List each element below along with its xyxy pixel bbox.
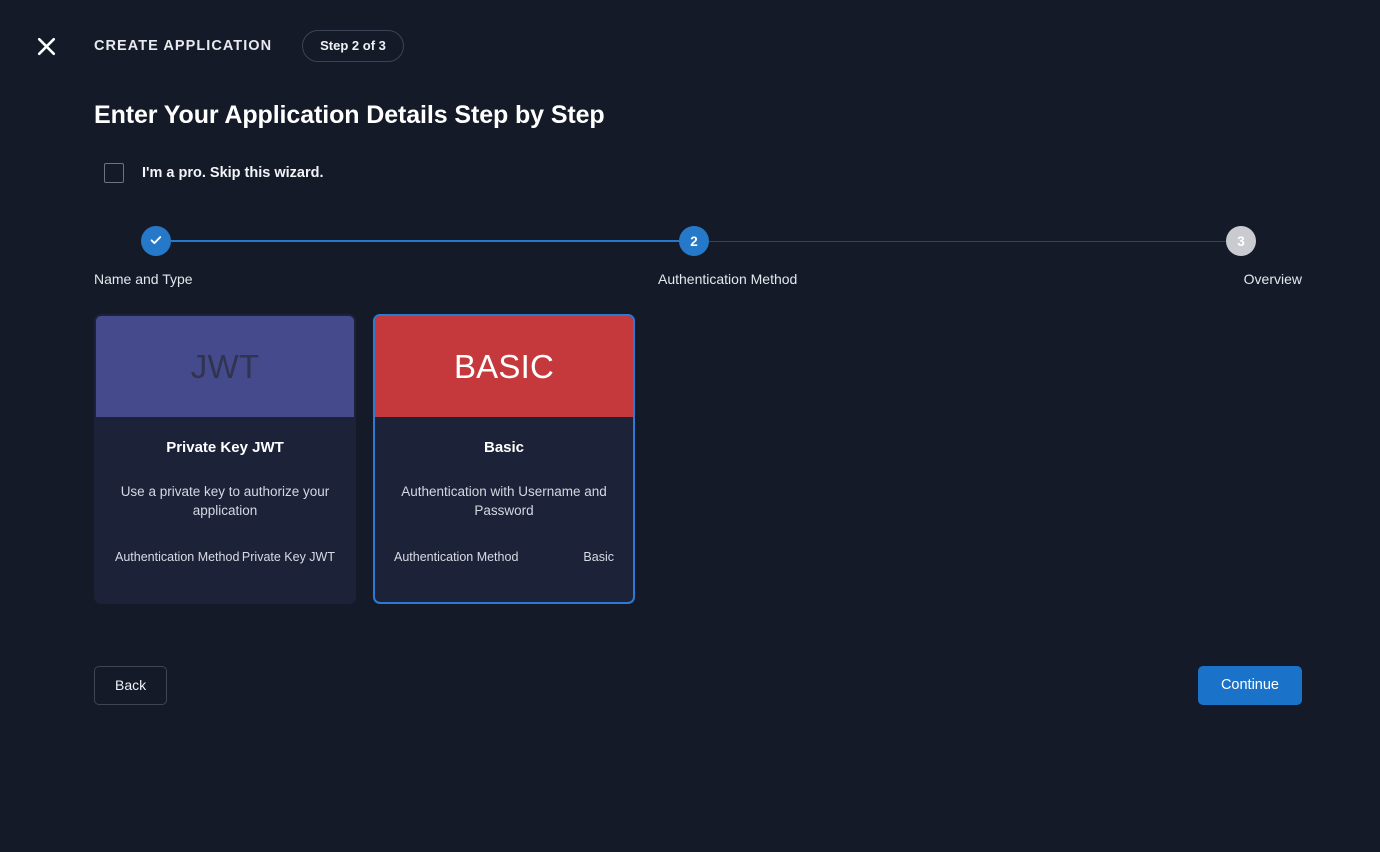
close-icon — [37, 37, 56, 56]
auth-method-card-basic[interactable]: BASIC Basic Authentication with Username… — [373, 314, 635, 604]
card-meta-value: Private Key JWT — [242, 550, 335, 564]
card-meta-value: Basic — [583, 550, 614, 564]
back-button[interactable]: Back — [94, 666, 167, 705]
skip-wizard-row[interactable]: I'm a pro. Skip this wizard. — [104, 163, 1302, 183]
wizard-topbar: CREATE APPLICATION Step 2 of 3 — [0, 0, 1380, 92]
continue-button[interactable]: Continue — [1198, 666, 1302, 705]
stepper-track: 2 3 — [141, 226, 1256, 256]
card-title: Basic — [389, 439, 619, 457]
card-banner-basic: BASIC — [375, 316, 633, 417]
card-meta-row: Authentication Method Basic — [389, 550, 619, 564]
wizard-title: CREATE APPLICATION — [94, 38, 272, 54]
auth-method-cards: JWT Private Key JWT Use a private key to… — [94, 314, 1302, 604]
stepper-node-1[interactable] — [141, 226, 171, 256]
skip-wizard-checkbox[interactable] — [104, 163, 124, 183]
card-body: Basic Authentication with Username and P… — [375, 417, 633, 602]
stepper-label-2: Authentication Method — [658, 271, 797, 287]
wizard-content: Enter Your Application Details Step by S… — [0, 101, 1380, 705]
stepper-segment-pending — [709, 241, 1226, 242]
card-meta-label: Authentication Method — [115, 550, 239, 564]
stepper-label-3: Overview — [1244, 271, 1302, 287]
card-body: Private Key JWT Use a private key to aut… — [96, 417, 354, 602]
card-meta-label: Authentication Method — [394, 550, 518, 564]
card-title: Private Key JWT — [110, 439, 340, 457]
check-icon — [149, 233, 163, 250]
card-banner-jwt: JWT — [96, 316, 354, 417]
step-badge[interactable]: Step 2 of 3 — [302, 30, 404, 62]
page-title: Enter Your Application Details Step by S… — [94, 101, 1302, 130]
skip-wizard-label: I'm a pro. Skip this wizard. — [142, 165, 324, 181]
stepper-node-2[interactable]: 2 — [679, 226, 709, 256]
stepper-node-3[interactable]: 3 — [1226, 226, 1256, 256]
close-wizard-button[interactable] — [30, 30, 62, 62]
wizard-footer: Back Continue — [94, 666, 1302, 705]
card-description: Authentication with Username and Passwor… — [389, 483, 619, 520]
auth-method-card-private-key-jwt[interactable]: JWT Private Key JWT Use a private key to… — [94, 314, 356, 604]
stepper-label-1: Name and Type — [94, 271, 193, 287]
card-description: Use a private key to authorize your appl… — [110, 483, 340, 520]
stepper-segment-completed — [171, 240, 679, 242]
card-meta-row: Authentication Method Private Key JWT — [110, 550, 340, 564]
wizard-stepper: 2 3 Name and Type Authentication Method … — [94, 226, 1302, 304]
